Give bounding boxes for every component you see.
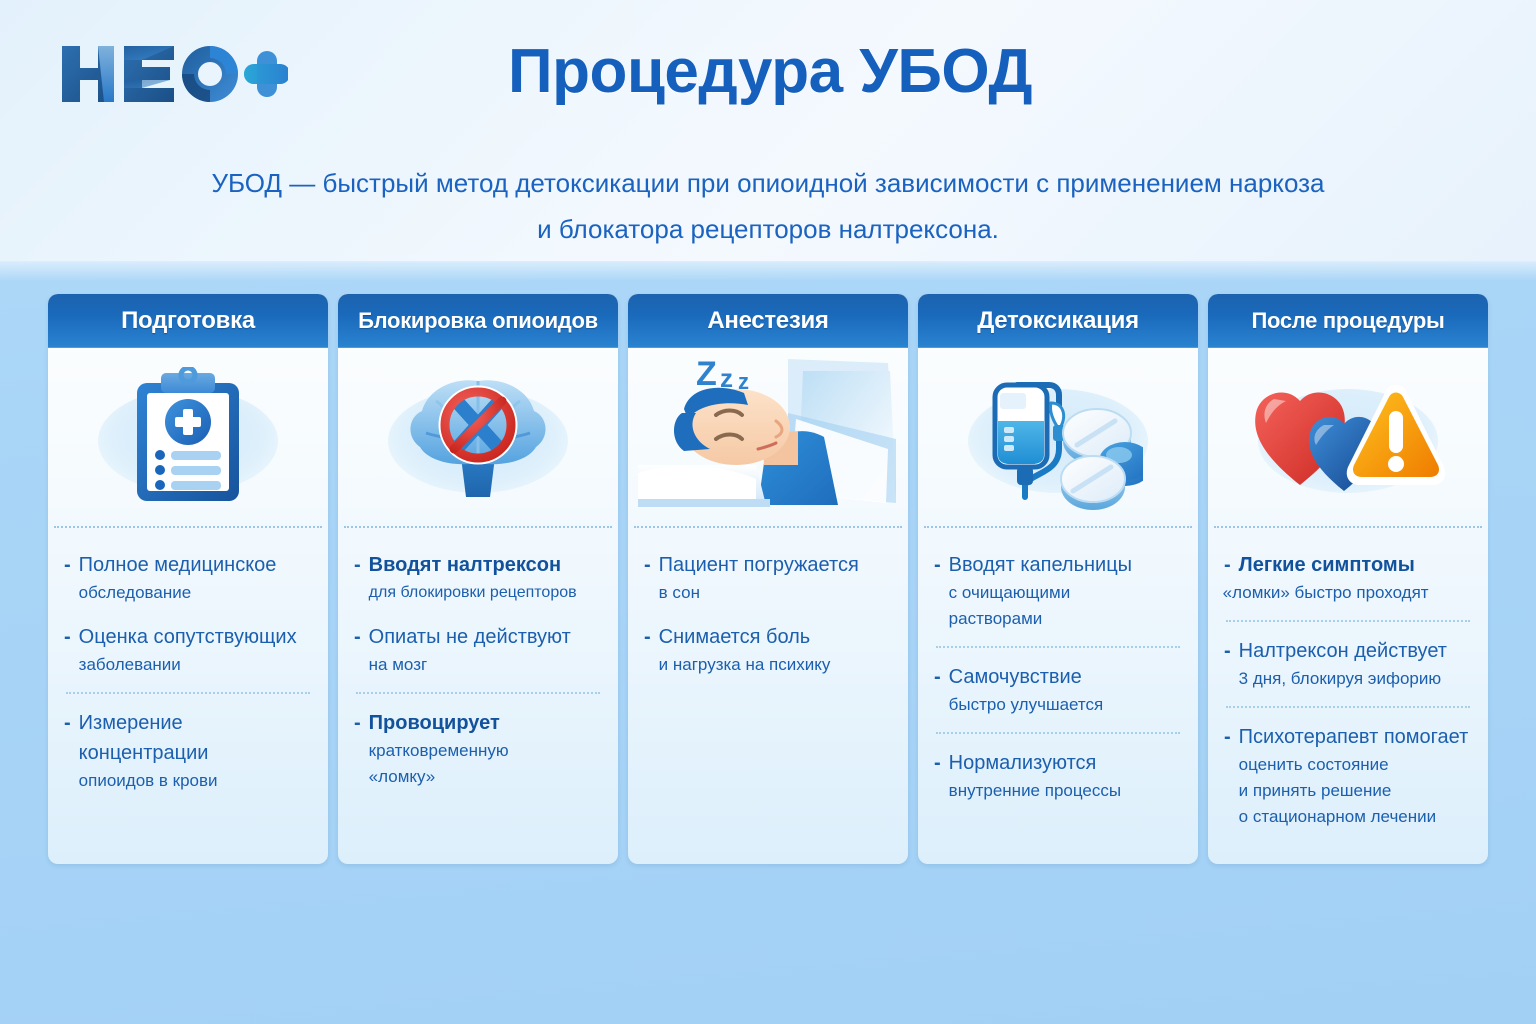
item-lead: Легкие симптомы <box>1239 554 1415 576</box>
hearts-warning-icon <box>1248 367 1448 507</box>
list-item: - Вводят капельницы с очищающими раствор… <box>934 550 1182 632</box>
bullet-dash: - <box>64 622 71 678</box>
subtitle-line-1: УБОД — быстрый метод детоксикации при оп… <box>168 160 1368 206</box>
list-item: - Опиаты не действуют на мозг <box>354 622 602 678</box>
iv-drip-pills-icon <box>973 363 1143 511</box>
card-header-detoxification: Детоксикация <box>918 294 1198 348</box>
list-item-text: Пациент погружается в сон <box>659 550 892 606</box>
list-item: - Пациент погружается в сон <box>644 550 892 606</box>
list-item-text: Вводят налтрексон для блокировки рецепто… <box>369 550 602 606</box>
card-detoxification[interactable]: Детоксикация <box>918 294 1198 864</box>
items-anesthesia: - Пациент погружается в сон - Снимается … <box>628 528 908 864</box>
item-divider <box>1226 706 1470 708</box>
list-item: - Снимается боль и нагрузка на психику <box>644 622 892 678</box>
card-title-anesthesia: Анестезия <box>707 307 828 335</box>
icon-area-after-procedure <box>1208 348 1488 526</box>
bullet-dash: - <box>354 622 361 678</box>
item-lead: Опиаты не действуют <box>369 626 571 648</box>
bullet-dash: - <box>934 550 941 632</box>
item-lead: Снимается боль <box>659 626 811 648</box>
list-item: - Самочувствие быстро улучшается <box>934 662 1182 718</box>
items-after-procedure: - Легкие симптомы «ломки» быстро проходя… <box>1208 528 1488 864</box>
list-item-text: Нормализуются внутренние процессы <box>949 748 1182 804</box>
item-sub: оценить состояние и принять решение о ст… <box>1239 752 1472 830</box>
list-item-text: Налтрексон действует 3 дня, блокируя эиф… <box>1239 636 1472 692</box>
item-sub: 3 дня, блокируя эифорию <box>1239 666 1472 692</box>
item-divider <box>936 732 1180 734</box>
list-item-text: Измерение концентрации опиоидов в крови <box>79 708 312 794</box>
item-divider <box>356 692 600 694</box>
list-item: - Полное медицинское обследование <box>64 550 312 606</box>
item-lead: Нормализуются <box>949 752 1097 774</box>
item-sub: внутренние процессы <box>949 778 1182 804</box>
list-item-text: Самочувствие быстро улучшается <box>949 662 1182 718</box>
infographic-page: Процедура УБОД УБОД — быстрый метод дето… <box>0 0 1536 1024</box>
card-title-preparation: Подготовка <box>121 307 255 335</box>
bullet-dash: - <box>644 550 651 606</box>
clipboard-medical-icon <box>123 367 253 507</box>
card-opioid-blocking[interactable]: Блокировка опиоидов <box>338 294 618 864</box>
list-item-text: Психотерапевт помогает оценить состояние… <box>1239 722 1472 830</box>
card-after-procedure[interactable]: После процедуры <box>1208 294 1488 864</box>
item-sub: заболевании <box>79 652 312 678</box>
item-spacer <box>354 606 602 622</box>
item-sub: кратковременную «ломку» <box>369 738 602 790</box>
items-detoxification: - Вводят капельницы с очищающими раствор… <box>918 528 1198 864</box>
icon-area-detoxification <box>918 348 1198 526</box>
list-item-text: Легкие симптомы «ломки» быстро проходят <box>1239 550 1472 606</box>
bullet-dash: - <box>1224 636 1231 692</box>
item-spacer <box>644 606 892 622</box>
icon-area-anesthesia: Z z z <box>628 348 908 526</box>
card-header-preparation: Подготовка <box>48 294 328 348</box>
list-item: - Налтрексон действует 3 дня, блокируя э… <box>1224 636 1472 692</box>
neo-plus-logo-svg <box>58 38 288 110</box>
bullet-dash: - <box>64 708 71 794</box>
item-lead: Полное медицинское <box>79 554 277 576</box>
list-item: - Нормализуются внутренние процессы <box>934 748 1182 804</box>
list-item-text: Опиаты не действуют на мозг <box>369 622 602 678</box>
bullet-dash: - <box>64 550 71 606</box>
list-item-text: Вводят капельницы с очищающими растворам… <box>949 550 1182 632</box>
items-preparation: - Полное медицинское обследование - Оцен… <box>48 528 328 864</box>
svg-text:z: z <box>738 369 749 394</box>
bullet-dash: - <box>354 550 361 606</box>
list-item: - Измерение концентрации опиоидов в кров… <box>64 708 312 794</box>
item-divider <box>1226 620 1470 622</box>
item-lead: Самочувствие <box>949 666 1082 688</box>
item-sub: для блокировки рецепторов <box>369 580 602 606</box>
item-lead: Измерение концентрации <box>79 712 209 764</box>
list-item-text: Снимается боль и нагрузка на психику <box>659 622 892 678</box>
neo-plus-logo <box>58 38 288 110</box>
item-divider <box>66 692 310 694</box>
card-header-opioid-blocking: Блокировка опиоидов <box>338 294 618 348</box>
item-sub: и нагрузка на психику <box>659 652 892 678</box>
bullet-dash: - <box>644 622 651 678</box>
item-lead: Вводят налтрексон <box>369 554 561 576</box>
item-lead: Провоцирует <box>369 712 500 734</box>
item-lead: Психотерапевт помогает <box>1239 726 1469 748</box>
sleeping-patient-icon: Z z z <box>638 353 898 521</box>
sleep-zzz-label: Z <box>696 355 717 393</box>
page-subtitle: УБОД — быстрый метод детоксикации при оп… <box>168 160 1368 252</box>
item-sub: быстро улучшается <box>949 692 1182 718</box>
list-item-text: Провоцирует кратковременную «ломку» <box>369 708 602 790</box>
list-item-text: Полное медицинское обследование <box>79 550 312 606</box>
card-preparation[interactable]: Подготовка <box>48 294 328 864</box>
item-lead: Оценка сопутствующих <box>79 626 297 648</box>
bullet-dash: - <box>934 748 941 804</box>
stage-cards-row: Подготовка <box>48 294 1488 864</box>
card-title-detoxification: Детоксикация <box>977 307 1139 335</box>
item-divider <box>936 646 1180 648</box>
card-title-opioid-blocking: Блокировка опиоидов <box>358 308 598 334</box>
card-anesthesia[interactable]: Анестезия <box>628 294 908 864</box>
item-lead: Налтрексон действует <box>1239 640 1447 662</box>
item-sub: на мозг <box>369 652 602 678</box>
page-title: Процедура УБОД <box>330 36 1210 107</box>
bullet-dash: - <box>934 662 941 718</box>
item-sub: с очищающими растворами <box>949 580 1182 632</box>
item-sub: обследование <box>79 580 312 606</box>
list-item: - Вводят налтрексон для блокировки рецеп… <box>354 550 602 606</box>
item-sub: в сон <box>659 580 892 606</box>
item-lead: Пациент погружается <box>659 554 859 576</box>
list-item: - Провоцирует кратковременную «ломку» <box>354 708 602 790</box>
card-header-after-procedure: После процедуры <box>1208 294 1488 348</box>
bullet-dash: - <box>354 708 361 790</box>
svg-text:z: z <box>720 363 733 393</box>
bullet-dash: - <box>1224 722 1231 830</box>
list-item: - Легкие симптомы «ломки» быстро проходя… <box>1224 550 1472 606</box>
subtitle-line-2: и блокатора рецепторов налтрексона. <box>168 206 1368 252</box>
icon-area-opioid-blocking <box>338 348 618 526</box>
brain-blocked-icon <box>398 367 558 507</box>
item-sub: «ломки» быстро проходят <box>1223 580 1472 606</box>
icon-area-preparation <box>48 348 328 526</box>
item-lead: Вводят капельницы <box>949 554 1132 576</box>
items-opioid-blocking: - Вводят налтрексон для блокировки рецеп… <box>338 528 618 864</box>
list-item: - Оценка сопутствующих заболевании <box>64 622 312 678</box>
list-item: - Психотерапевт помогает оценить состоян… <box>1224 722 1472 830</box>
item-sub: опиоидов в крови <box>79 768 312 794</box>
list-item-text: Оценка сопутствующих заболевании <box>79 622 312 678</box>
card-title-after-procedure: После процедуры <box>1251 308 1444 334</box>
card-header-anesthesia: Анестезия <box>628 294 908 348</box>
item-spacer <box>64 606 312 622</box>
